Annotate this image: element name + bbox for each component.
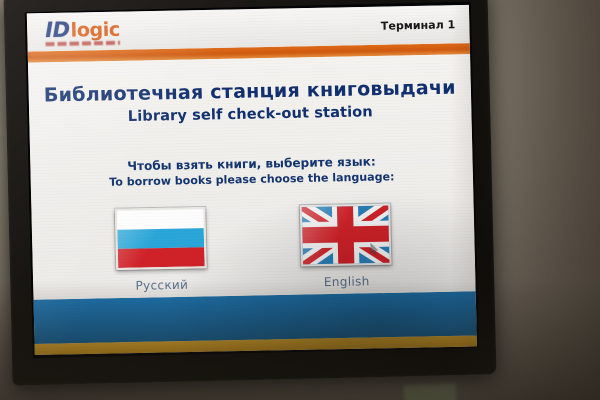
flag-band-white xyxy=(117,209,204,230)
main-stage: Библиотечная станция книговыдачи Library… xyxy=(28,54,476,300)
photo-scene: ID logic Терминал 1 Библиотечная станция… xyxy=(0,0,600,400)
flag-band-blue xyxy=(117,228,204,249)
russian-flag-icon[interactable] xyxy=(115,207,207,270)
mouse-cursor-icon xyxy=(370,243,379,255)
logo-logic-text: logic xyxy=(70,21,120,41)
wall-shadow-bottom xyxy=(0,280,600,400)
logo-wordmark: ID logic xyxy=(45,19,120,42)
flag-cross-red-horizontal xyxy=(302,226,389,244)
prompt-text-en: To borrow books please choose the langua… xyxy=(109,170,395,189)
flag-band-red xyxy=(118,247,205,268)
union-jack-flag-icon[interactable] xyxy=(300,203,392,266)
terminal-id-label: Терминал 1 xyxy=(381,18,456,32)
logo-tagline xyxy=(46,41,120,46)
idlogic-logo: ID logic xyxy=(45,17,120,47)
logo-id-text: ID xyxy=(45,20,70,42)
page-title-ru: Библиотечная станция книговыдачи xyxy=(44,77,456,107)
page-title-en: Library self check-out station xyxy=(128,104,373,125)
